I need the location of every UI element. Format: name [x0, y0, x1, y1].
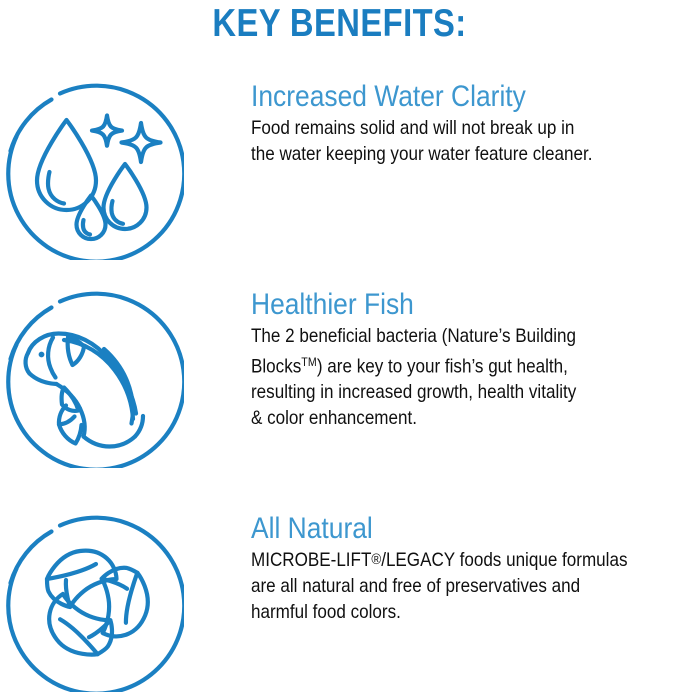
benefit-copy: Increased Water Clarity Food remains sol…: [251, 80, 675, 167]
benefit-body-line: Food remains solid and will not break up…: [251, 115, 675, 141]
benefit-heading: All Natural: [251, 512, 624, 546]
benefit-body: Food remains solid and will not break up…: [251, 115, 675, 167]
benefit-body: The 2 beneficial bacteria (Nature’s Buil…: [251, 323, 675, 431]
key-benefits-panel: KEY BENEFITS:: [0, 0, 679, 692]
benefit-body-text: /LEGACY foods unique formulas: [381, 549, 627, 571]
benefit-body-line: the water keeping your water feature cle…: [251, 141, 675, 167]
benefit-heading: Increased Water Clarity: [251, 80, 624, 114]
benefit-body-text: MICROBE-LIFT: [251, 549, 371, 571]
three-leaves-recycle-icon: [4, 512, 184, 692]
benefit-heading: Healthier Fish: [251, 288, 624, 322]
benefit-body-line: MICROBE-LIFT®/LEGACY foods unique formul…: [251, 547, 675, 573]
benefit-body-text: ) are key to your fish’s gut health,: [317, 355, 568, 377]
fish-icon: [4, 288, 184, 468]
benefit-body-text: Blocks: [251, 355, 301, 377]
benefit-body-line: are all natural and free of preservative…: [251, 573, 675, 599]
trademark-symbol: TM: [301, 355, 317, 369]
page-title: KEY BENEFITS:: [54, 2, 624, 46]
benefit-body-line: The 2 beneficial bacteria (Nature’s Buil…: [251, 323, 675, 349]
benefit-body-line: & color enhancement.: [251, 405, 675, 431]
benefit-body-line: harmful food colors.: [251, 599, 675, 625]
benefit-body-line: BlocksTM) are key to your fish’s gut hea…: [251, 349, 675, 379]
benefit-body: MICROBE-LIFT®/LEGACY foods unique formul…: [251, 547, 675, 625]
benefit-copy: Healthier Fish The 2 beneficial bacteria…: [251, 288, 675, 431]
registered-symbol: ®: [371, 551, 381, 568]
water-drops-sparkle-icon: [4, 80, 184, 260]
benefit-copy: All Natural MICROBE-LIFT®/LEGACY foods u…: [251, 512, 675, 625]
benefit-body-line: resulting in increased growth, health vi…: [251, 379, 675, 405]
